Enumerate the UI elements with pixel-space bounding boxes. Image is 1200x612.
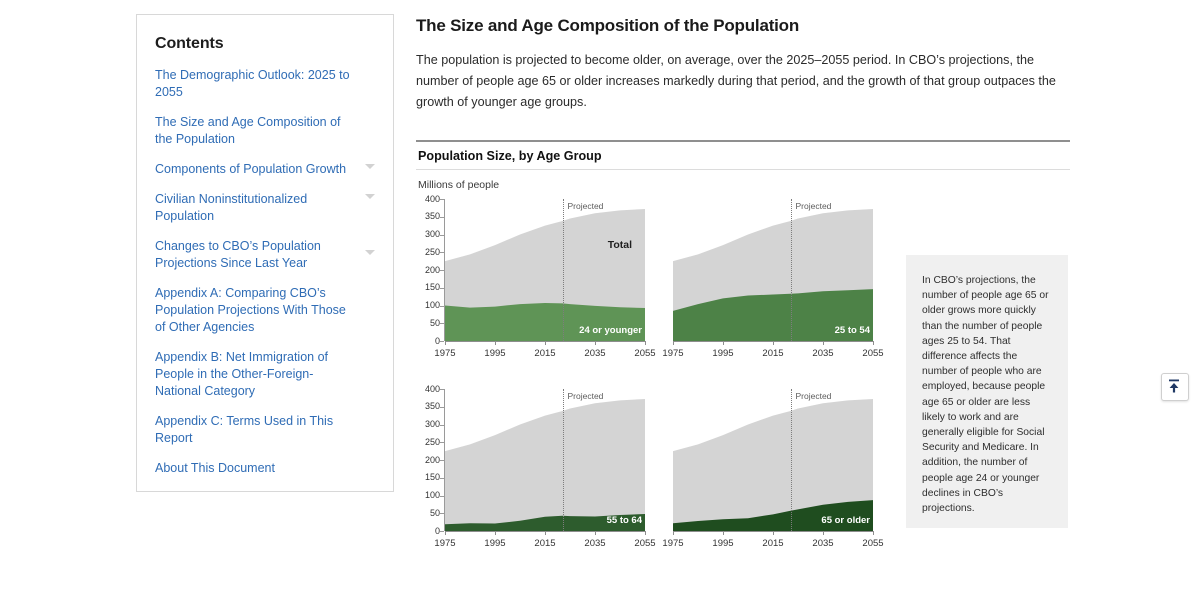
y-tick-label: 300 xyxy=(416,230,440,239)
total-area xyxy=(445,399,645,531)
x-tick-label: 2015 xyxy=(762,538,783,549)
series-label: 65 or older xyxy=(821,515,870,526)
y-tick-label: 100 xyxy=(416,301,440,310)
x-tick-mark xyxy=(495,531,496,535)
y-tick-label: 150 xyxy=(416,283,440,292)
x-tick-label: 2015 xyxy=(534,538,555,549)
x-tick-mark xyxy=(773,531,774,535)
area-chart-svg xyxy=(445,389,645,531)
toc-link-0[interactable]: The Demographic Outlook: 2025 to 2055 xyxy=(155,67,357,101)
projection-label: Projected xyxy=(568,391,604,401)
plot-area: Projected1975199520152035205565 or older xyxy=(644,389,874,557)
toc-item-7[interactable]: Appendix C: Terms Used in This Report xyxy=(155,413,379,447)
chart-panel-24-or-younger: 050100150200250300350400Projected1975199… xyxy=(416,199,646,367)
x-tick-mark xyxy=(445,531,446,535)
plot-area: Projected1975199520152035205525 to 54 xyxy=(644,199,874,367)
main-content: The Size and Age Composition of the Popu… xyxy=(416,16,1070,113)
toc-link-3[interactable]: Civilian Noninstitutionalized Population xyxy=(155,191,357,225)
toc-item-2[interactable]: Components of Population Growth xyxy=(155,161,379,178)
x-tick-label: 1975 xyxy=(434,538,455,549)
projection-divider xyxy=(563,389,564,531)
exhibit-top-rule xyxy=(416,140,1070,142)
x-tick-mark xyxy=(773,341,774,345)
y-tick-label: 0 xyxy=(416,337,440,346)
x-tick-mark xyxy=(723,341,724,345)
x-tick-label: 2035 xyxy=(812,538,833,549)
x-tick-mark xyxy=(595,341,596,345)
toc-link-2[interactable]: Components of Population Growth xyxy=(155,161,357,178)
x-tick-mark xyxy=(823,531,824,535)
plot-area: 050100150200250300350400Projected1975199… xyxy=(416,199,646,367)
x-tick-label: 1975 xyxy=(662,348,683,359)
page-title: The Size and Age Composition of the Popu… xyxy=(416,16,1070,36)
y-tick-label: 50 xyxy=(416,509,440,518)
toc-link-1[interactable]: The Size and Age Composition of the Popu… xyxy=(155,114,357,148)
y-tick-label: 300 xyxy=(416,420,440,429)
x-tick-mark xyxy=(873,341,874,345)
projection-label: Projected xyxy=(796,391,832,401)
toc-item-4[interactable]: Changes to CBO’s Population Projections … xyxy=(155,238,379,272)
back-to-top-button[interactable] xyxy=(1161,373,1189,401)
toc-link-7[interactable]: Appendix C: Terms Used in This Report xyxy=(155,413,357,447)
x-tick-label: 1995 xyxy=(712,348,733,359)
y-tick-label: 100 xyxy=(416,491,440,500)
callout-box: In CBO’s projections, the number of peop… xyxy=(906,255,1068,528)
y-tick-label: 200 xyxy=(416,266,440,275)
series-label: 55 to 64 xyxy=(607,515,642,526)
x-tick-mark xyxy=(873,531,874,535)
toc-link-4[interactable]: Changes to CBO’s Population Projections … xyxy=(155,238,357,272)
plot-area: 050100150200250300350400Projected1975199… xyxy=(416,389,646,557)
projection-label: Projected xyxy=(568,201,604,211)
x-tick-label: 1975 xyxy=(434,348,455,359)
x-tick-label: 2015 xyxy=(762,348,783,359)
y-tick-label: 400 xyxy=(416,385,440,394)
toc-item-6[interactable]: Appendix B: Net Immigration of People in… xyxy=(155,349,379,400)
toc-item-3[interactable]: Civilian Noninstitutionalized Population xyxy=(155,191,379,225)
chart-panel-55-to-64: 050100150200250300350400Projected1975199… xyxy=(416,389,646,557)
chart-panel-25-to-54: Projected1975199520152035205525 to 54 xyxy=(644,199,874,367)
area-chart-svg xyxy=(445,199,645,341)
x-tick-mark xyxy=(595,531,596,535)
chevron-down-icon[interactable] xyxy=(365,164,375,169)
table-of-contents: Contents The Demographic Outlook: 2025 t… xyxy=(136,14,394,492)
series-label: 24 or younger xyxy=(579,325,642,336)
y-tick-label: 350 xyxy=(416,402,440,411)
x-tick-mark xyxy=(545,531,546,535)
contents-list: The Demographic Outlook: 2025 to 2055The… xyxy=(137,67,393,477)
x-tick-label: 1995 xyxy=(712,538,733,549)
chart-units-label: Millions of people xyxy=(418,179,1070,191)
x-tick-label: 2035 xyxy=(812,348,833,359)
x-tick-label: 2055 xyxy=(862,538,883,549)
y-tick-mark xyxy=(440,341,444,342)
y-tick-label: 250 xyxy=(416,248,440,257)
callout-text: In CBO’s projections, the number of peop… xyxy=(922,273,1052,516)
total-label: Total xyxy=(608,239,632,251)
y-tick-label: 0 xyxy=(416,527,440,536)
projection-divider xyxy=(791,199,792,341)
x-tick-label: 2035 xyxy=(584,538,605,549)
contents-heading: Contents xyxy=(155,35,393,53)
x-tick-label: 2015 xyxy=(534,348,555,359)
x-tick-label: 1995 xyxy=(484,348,505,359)
x-tick-mark xyxy=(823,341,824,345)
x-tick-mark xyxy=(723,531,724,535)
y-tick-label: 400 xyxy=(416,195,440,204)
x-tick-label: 1995 xyxy=(484,538,505,549)
x-tick-mark xyxy=(673,341,674,345)
x-tick-label: 2055 xyxy=(862,348,883,359)
x-tick-mark xyxy=(673,531,674,535)
toc-item-0[interactable]: The Demographic Outlook: 2025 to 2055 xyxy=(155,67,379,101)
x-tick-label: 2035 xyxy=(584,348,605,359)
toc-item-5[interactable]: Appendix A: Comparing CBO’s Population P… xyxy=(155,285,379,336)
chart-panel-65-or-older: Projected1975199520152035205565 or older xyxy=(644,389,874,557)
area-chart-svg xyxy=(673,389,873,531)
chevron-down-icon[interactable] xyxy=(365,250,375,255)
projection-divider xyxy=(791,389,792,531)
arrow-up-to-bar-icon xyxy=(1162,374,1186,398)
y-tick-label: 200 xyxy=(416,456,440,465)
series-label: 25 to 54 xyxy=(835,325,870,336)
intro-paragraph: The population is projected to become ol… xyxy=(416,50,1061,113)
exhibit: Population Size, by Age Group Millions o… xyxy=(416,140,1070,199)
y-tick-mark xyxy=(440,531,444,532)
y-tick-label: 350 xyxy=(416,212,440,221)
toc-link-6[interactable]: Appendix B: Net Immigration of People in… xyxy=(155,349,357,400)
y-tick-label: 50 xyxy=(416,319,440,328)
projection-label: Projected xyxy=(796,201,832,211)
x-tick-label: 1975 xyxy=(662,538,683,549)
toc-link-5[interactable]: Appendix A: Comparing CBO’s Population P… xyxy=(155,285,357,336)
chevron-down-icon[interactable] xyxy=(365,194,375,199)
area-chart-svg xyxy=(673,199,873,341)
projection-divider xyxy=(563,199,564,341)
x-tick-mark xyxy=(495,341,496,345)
toc-item-1[interactable]: The Size and Age Composition of the Popu… xyxy=(155,114,379,148)
report-page: Contents The Demographic Outlook: 2025 t… xyxy=(0,0,1200,612)
exhibit-bottom-rule xyxy=(416,169,1070,170)
x-tick-mark xyxy=(545,341,546,345)
y-tick-label: 250 xyxy=(416,438,440,447)
y-tick-label: 150 xyxy=(416,473,440,482)
x-tick-mark xyxy=(445,341,446,345)
toc-link-8[interactable]: About This Document xyxy=(155,460,357,477)
exhibit-title: Population Size, by Age Group xyxy=(418,149,1070,163)
toc-item-8[interactable]: About This Document xyxy=(155,460,379,477)
